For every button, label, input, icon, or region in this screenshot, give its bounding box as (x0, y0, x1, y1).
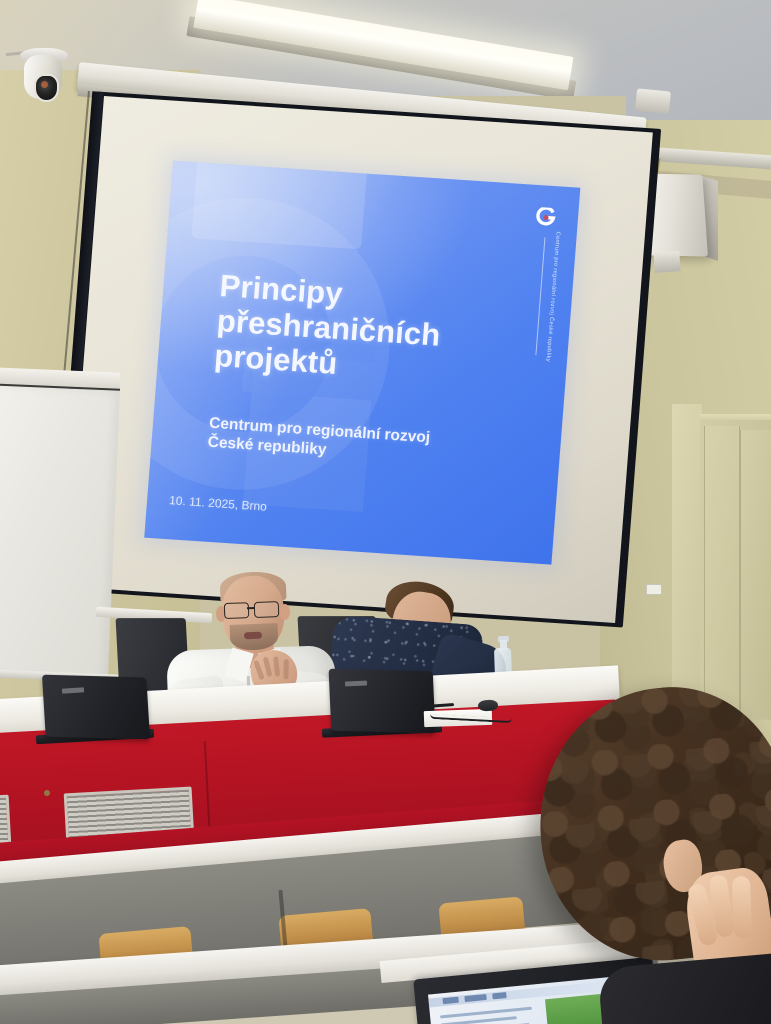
screen-roller-endcap (635, 88, 671, 113)
laptop-left[interactable] (42, 675, 150, 740)
finger (732, 876, 752, 939)
laptop-right-logo-icon (345, 681, 367, 687)
crr-c-logo-icon (535, 207, 556, 228)
finger (263, 657, 273, 678)
speaker-bracket (653, 251, 680, 273)
cabinet-door-right[interactable] (740, 430, 771, 718)
finger (273, 656, 280, 676)
glasses-icon (224, 601, 284, 617)
presenter-left-mouth (244, 632, 262, 640)
cabinet-door-left[interactable] (704, 426, 740, 716)
laptop-right[interactable] (329, 669, 436, 734)
slide-title: Principy přeshraničních projektů (213, 268, 530, 393)
camera-indicator-icon (41, 81, 48, 88)
finger (283, 659, 288, 679)
laptop-screen-line (440, 1007, 532, 1019)
wall-pillar (672, 404, 702, 734)
whiteboard (0, 383, 120, 680)
projection-screen: Centrum pro regionální rozvoj České repu… (66, 96, 659, 631)
presentation-slide: Centrum pro regionální rozvoj České repu… (144, 161, 580, 565)
slide-vertical-rule (535, 237, 545, 355)
glasses-lens-right (254, 601, 280, 618)
lecture-hall-photo: Centrum pro regionální rozvoj České repu… (0, 0, 771, 1024)
wall-socket-icon (646, 584, 662, 595)
finger (253, 660, 265, 681)
camera-lens-icon (34, 74, 59, 102)
glasses-lens-left (224, 602, 250, 619)
slide-vertical-caption: Centrum pro regionální rozvoj České repu… (545, 231, 561, 362)
